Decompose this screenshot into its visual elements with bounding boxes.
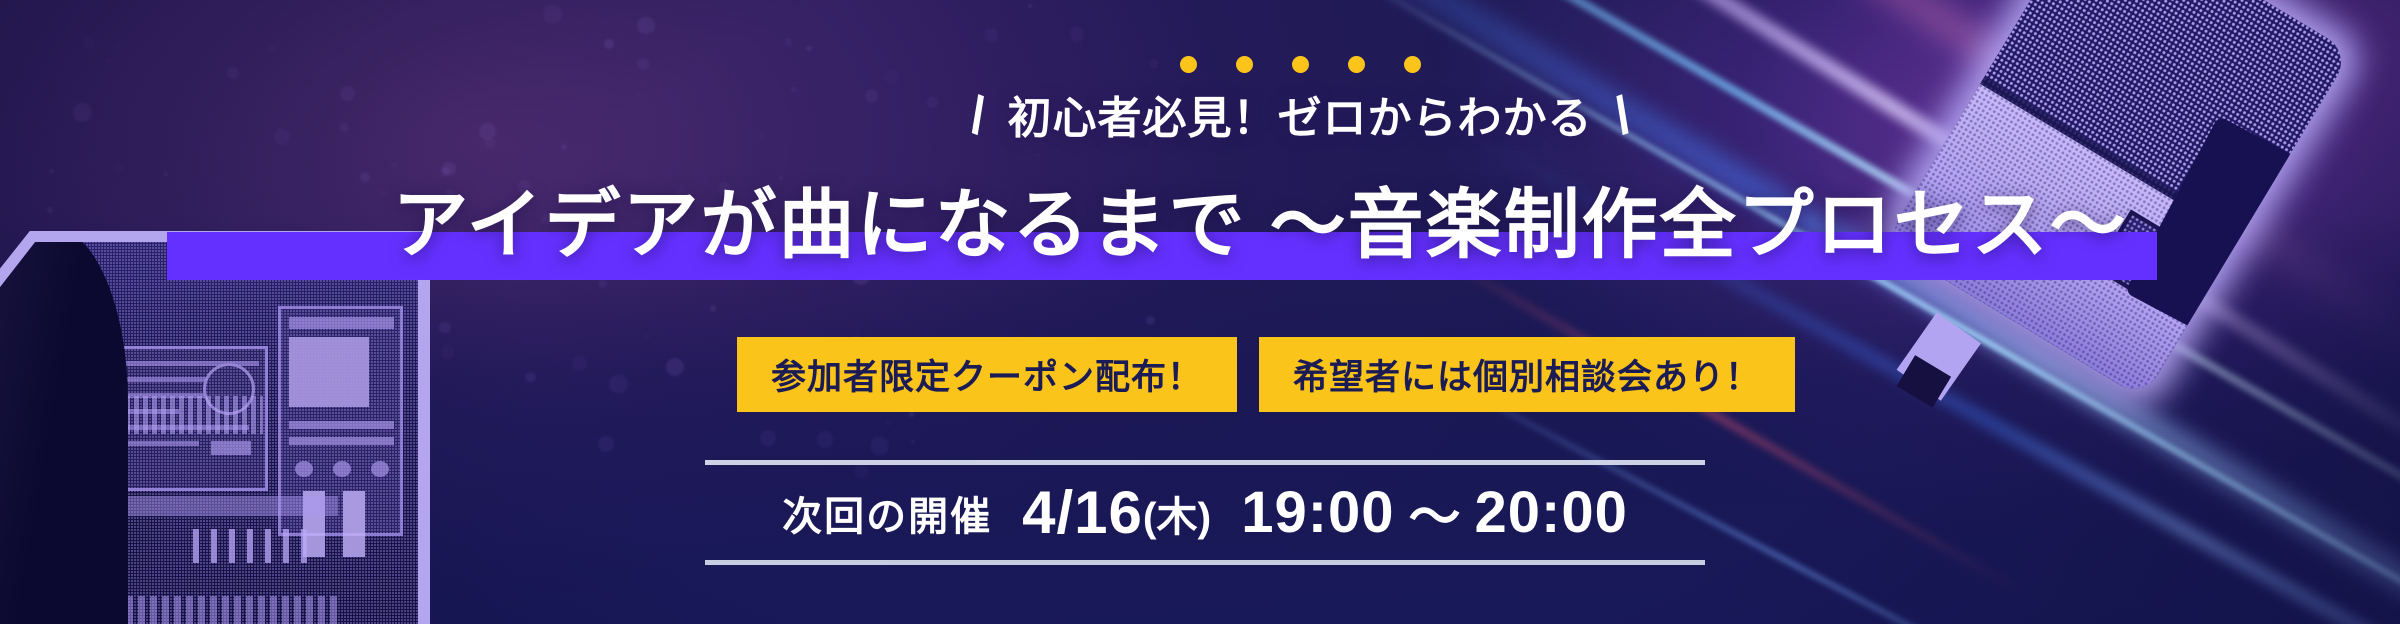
- banner-content: \ 初心者必見！ゼロからわかる / アイデアが曲になるまで 〜音楽制作全プロセス…: [0, 0, 2400, 624]
- kicker-text: 初心者必見！ゼロからわかる: [1008, 82, 1593, 146]
- decorative-dot: [1348, 56, 1365, 73]
- kicker-line: \ 初心者必見！ゼロからわかる /: [0, 82, 2400, 146]
- kicker-slash-right-icon: /: [1607, 89, 1638, 143]
- schedule-date: 4/16: [1022, 478, 1143, 547]
- seminar-promo-banner: \ 初心者必見！ゼロからわかる / アイデアが曲になるまで 〜音楽制作全プロセス…: [0, 0, 2400, 624]
- schedule-row: 次回の開催 4/16 (木) 19:00 〜 20:00: [705, 465, 1705, 560]
- decorative-dot: [1292, 56, 1309, 73]
- schedule-weekday: (木): [1143, 483, 1211, 543]
- schedule-start: 19:00: [1241, 479, 1394, 546]
- badge-consultation: 希望者には個別相談会あり！: [1259, 337, 1795, 412]
- decorative-dot: [1404, 56, 1421, 73]
- decorative-dot: [1180, 56, 1197, 73]
- schedule-end: 20:00: [1475, 479, 1628, 546]
- schedule-block: 次回の開催 4/16 (木) 19:00 〜 20:00: [705, 460, 1705, 565]
- schedule-separator: 〜: [1409, 475, 1461, 550]
- badge-coupon: 参加者限定クーポン配布！: [737, 337, 1237, 412]
- kicker-slash-left-icon: \: [962, 89, 993, 143]
- feature-badges: 参加者限定クーポン配布！ 希望者には個別相談会あり！: [0, 337, 2400, 412]
- schedule-label: 次回の開催: [782, 484, 992, 542]
- decorative-dot: [1236, 56, 1253, 73]
- decorative-dots-row: [0, 56, 2400, 73]
- banner-title: アイデアが曲になるまで 〜音楽制作全プロセス〜: [0, 163, 2400, 273]
- schedule-rule-bottom: [705, 560, 1705, 565]
